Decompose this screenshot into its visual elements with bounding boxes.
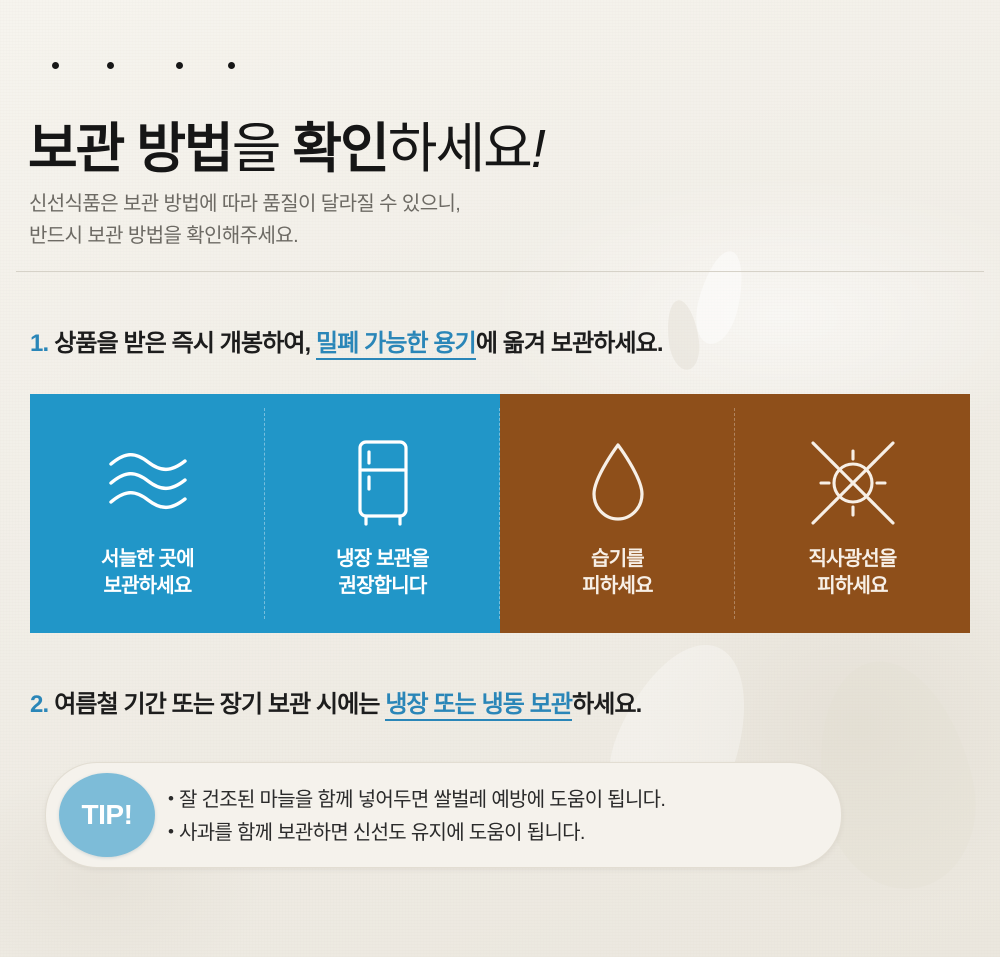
tip-list: •잘 건조된 마늘을 함께 넣어두면 쌀벌레 예방에 도움이 됩니다. •사과를… [168, 783, 819, 849]
background-watermark [663, 298, 702, 371]
page-title-exclamation: ! [531, 119, 544, 179]
panel-caption: 직사광선을 피하세요 [809, 546, 897, 600]
panel-cool-storage: 서늘한 곳에 보관하세요 [30, 394, 265, 633]
tip-list-item: •잘 건조된 마늘을 함께 넣어두면 쌀벌레 예방에 도움이 됩니다. [168, 783, 819, 816]
step-1-text: 1.상품을 받은 즉시 개봉하여, 밀폐 가능한 용기에 옮겨 보관하세요. [30, 329, 663, 359]
step-2-after: 하세요. [572, 691, 641, 718]
bullet-icon: • [168, 816, 179, 848]
panel-caption: 서늘한 곳에 보관하세요 [101, 546, 194, 600]
page-subtitle: 신선식품은 보관 방법에 따라 품질이 달라질 수 있으니, 반드시 보관 방법… [29, 188, 460, 252]
step-2-text: 2.여름철 기간 또는 장기 보관 시에는 냉장 또는 냉동 보관하세요. [30, 690, 641, 720]
tip-item-text: 사과를 함께 보관하면 신선도 유지에 도움이 됩니다. [179, 822, 585, 844]
tip-badge-label: TIP! [82, 799, 133, 831]
step-1-number: 1. [30, 330, 48, 357]
dot [107, 62, 114, 69]
background-watermark [798, 647, 993, 903]
bullet-icon: • [168, 783, 179, 815]
storage-condition-panels: 서늘한 곳에 보관하세요 냉장 보관을 권장합니다 습기를 피하세요 [30, 394, 970, 633]
step-1-highlight: 밀폐 가능한 용기 [316, 330, 476, 360]
water-drop-icon [587, 428, 649, 538]
page-title-part-4: 하세요 [388, 119, 531, 179]
tip-badge: TIP! [59, 773, 155, 857]
panel-refrigerate: 냉장 보관을 권장합니다 [265, 394, 500, 633]
step-2-before: 여름철 기간 또는 장기 보관 시에는 [54, 691, 385, 718]
wind-waves-icon [105, 428, 191, 538]
refrigerator-icon [352, 428, 414, 538]
header-divider [16, 271, 984, 272]
dot [52, 62, 59, 69]
step-2-number: 2. [30, 691, 48, 718]
tip-box: TIP! •잘 건조된 마늘을 함께 넣어두면 쌀벌레 예방에 도움이 됩니다.… [45, 762, 842, 868]
tip-item-text: 잘 건조된 마늘을 함께 넣어두면 쌀벌레 예방에 도움이 됩니다. [179, 789, 665, 811]
background-watermark [689, 247, 751, 349]
decorative-dots [52, 62, 312, 72]
no-sunlight-icon [807, 428, 899, 538]
panel-avoid-humidity: 습기를 피하세요 [500, 394, 735, 633]
page-title-part-1: 보관 방법 [28, 119, 232, 179]
panel-caption: 냉장 보관을 권장합니다 [336, 546, 429, 600]
step-2-highlight: 냉장 또는 냉동 보관 [385, 691, 572, 721]
step-1-after: 에 옮겨 보관하세요. [476, 330, 663, 357]
page-title-part-2: 을 [232, 119, 293, 179]
step-1-before: 상품을 받은 즉시 개봉하여, [54, 330, 316, 357]
tip-list-item: •사과를 함께 보관하면 신선도 유지에 도움이 됩니다. [168, 816, 819, 849]
panel-avoid-sunlight: 직사광선을 피하세요 [735, 394, 970, 633]
page-title-part-3: 확인 [292, 119, 387, 179]
panel-caption: 습기를 피하세요 [582, 546, 652, 600]
dot [228, 62, 235, 69]
page-title: 보관 방법을 확인하세요! [28, 118, 544, 180]
dot [176, 62, 183, 69]
